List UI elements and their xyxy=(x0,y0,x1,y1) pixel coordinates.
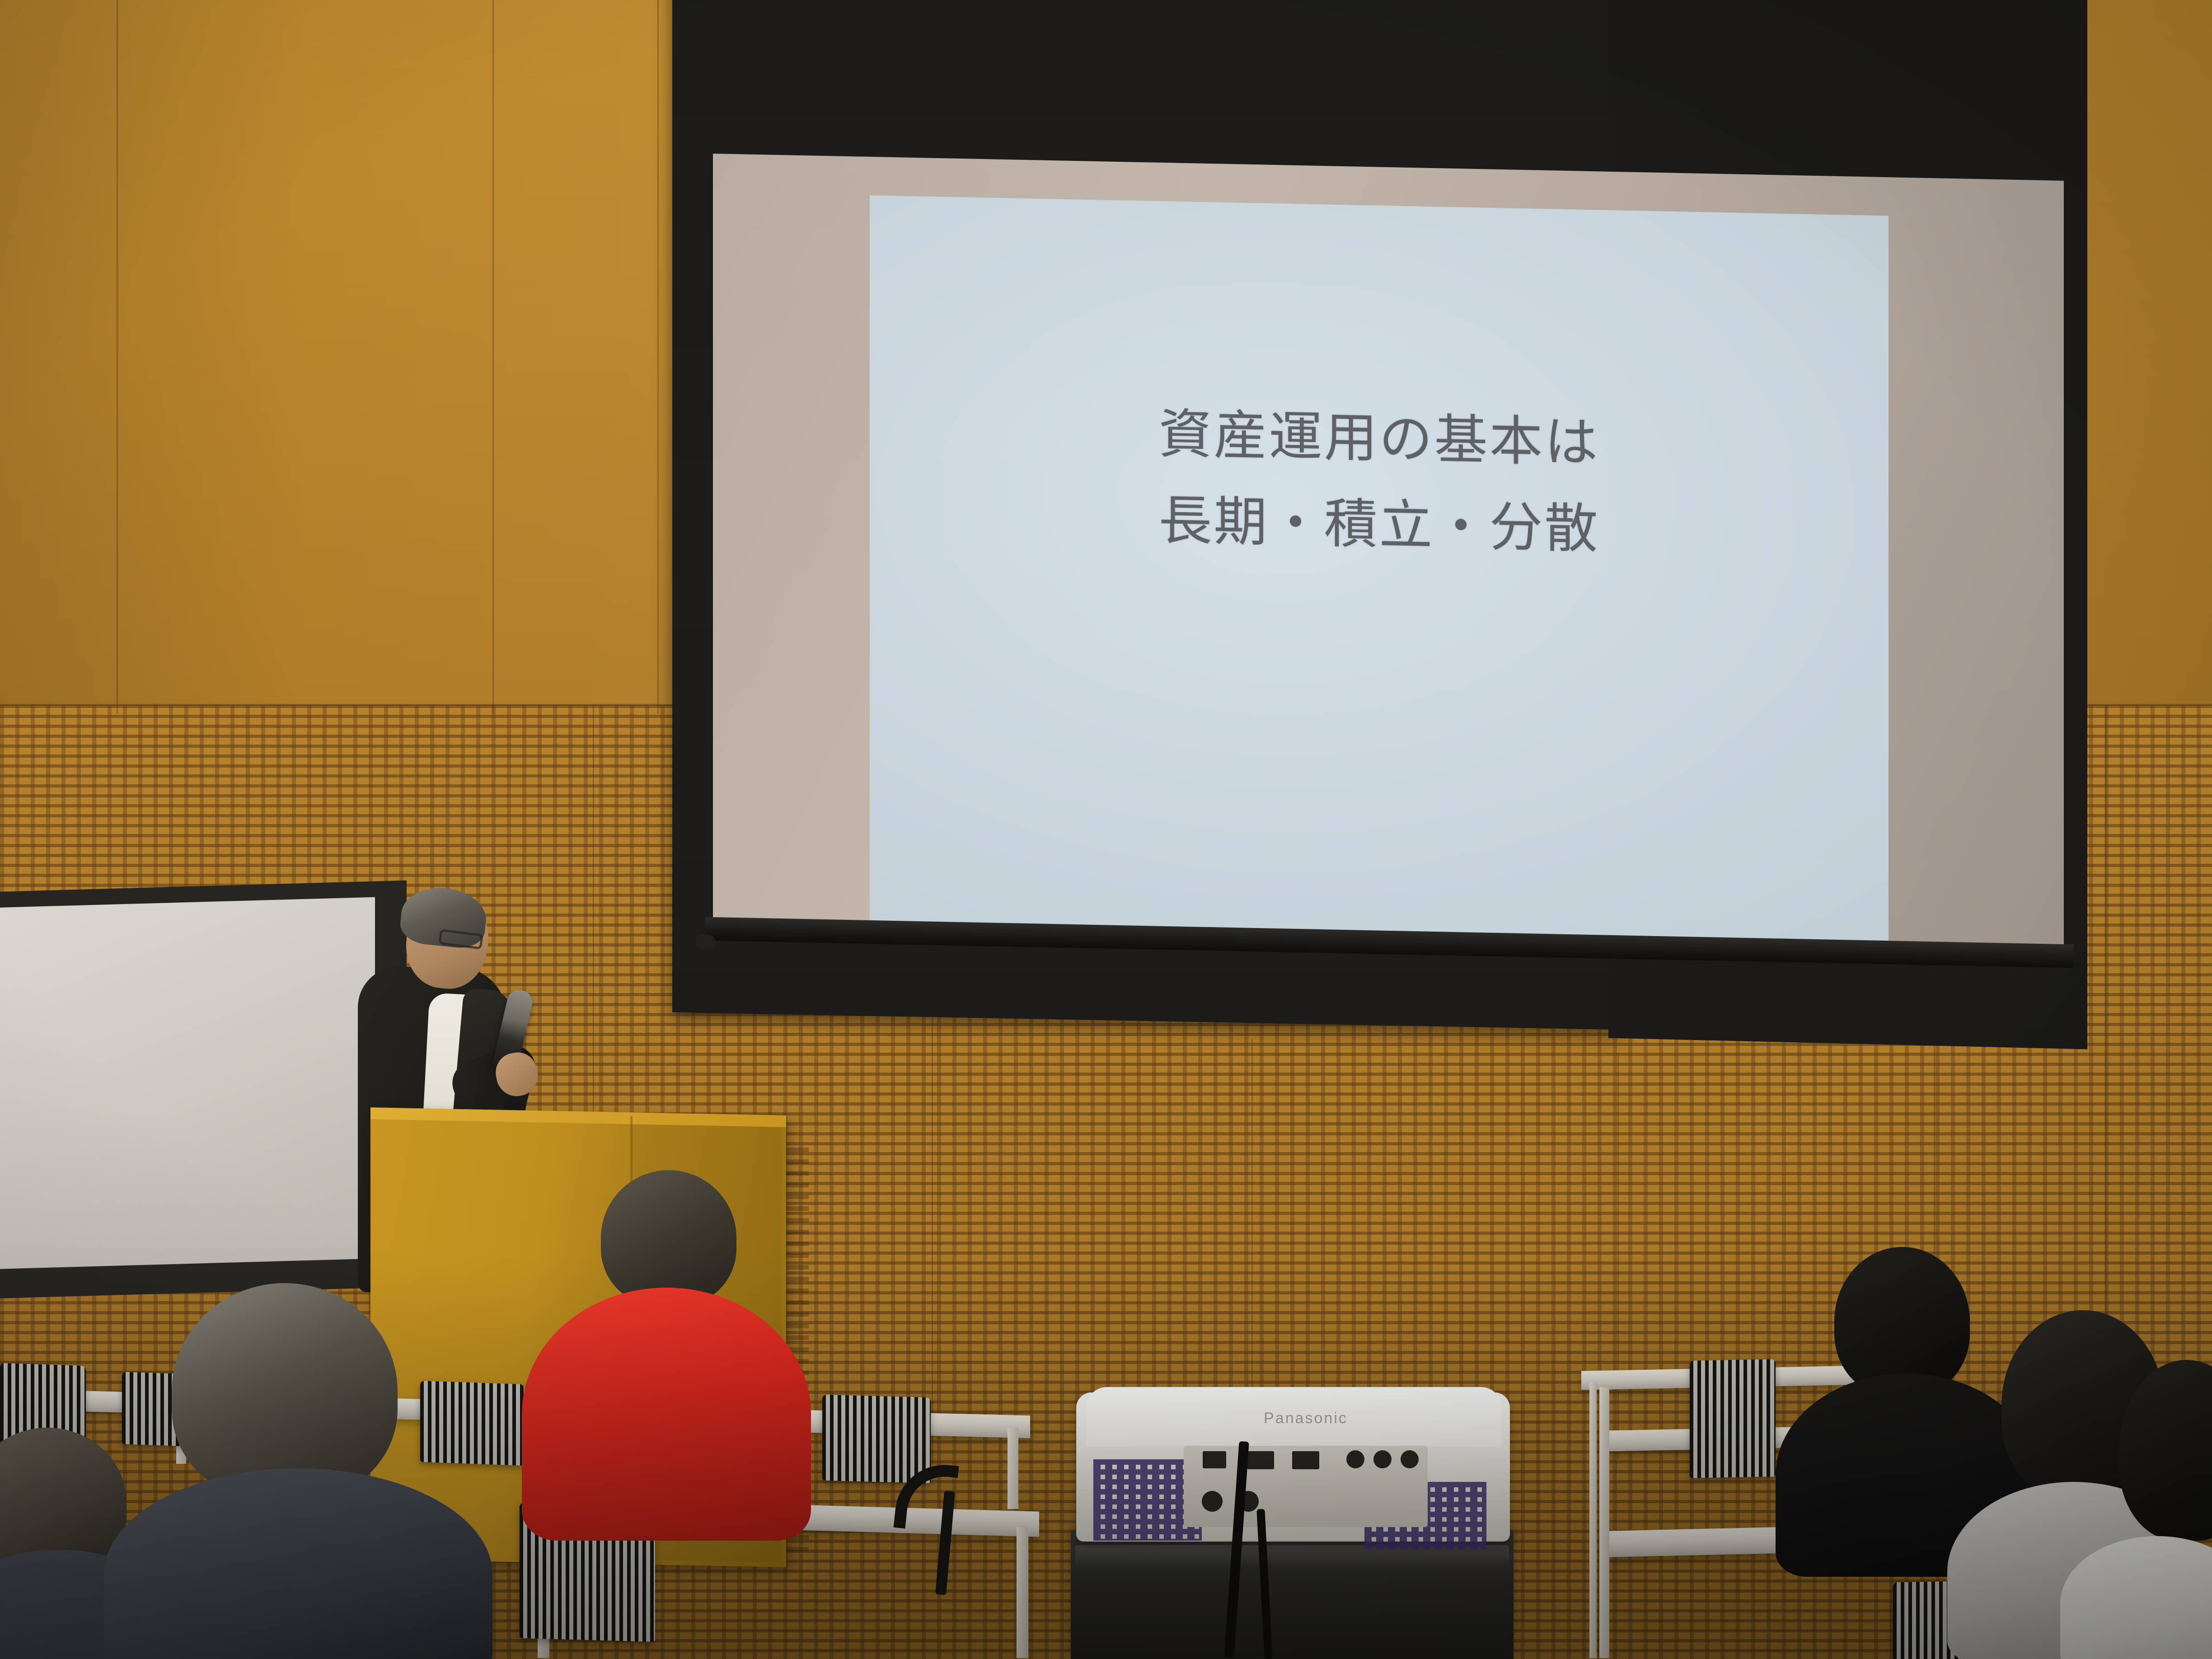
projector-port-audio-1[interactable] xyxy=(1346,1450,1364,1468)
audience-head-center-red xyxy=(601,1170,736,1306)
projector-port-usb[interactable] xyxy=(1203,1451,1226,1468)
wall-seam xyxy=(657,0,659,714)
audience-head-front-left xyxy=(172,1283,398,1500)
projector-port-vga[interactable] xyxy=(1292,1451,1319,1469)
chair-right-back[interactable] xyxy=(1690,1359,1776,1478)
desk-leg xyxy=(1017,1527,1028,1658)
lecture-hall-photo: 資産運用の基本は 長期・積立・分散 xyxy=(0,0,2212,1659)
chair-center-1[interactable] xyxy=(822,1395,931,1483)
projector-port-video[interactable] xyxy=(1202,1491,1223,1512)
screen-roller-knob[interactable] xyxy=(695,934,716,950)
chair-back-left-3[interactable] xyxy=(420,1381,524,1466)
wall-seam xyxy=(117,0,118,714)
desk-leg xyxy=(1589,1382,1597,1658)
projected-slide: 資産運用の基本は 長期・積立・分散 xyxy=(870,195,1889,954)
wall-seam xyxy=(1617,1053,1619,1459)
projector-brand-label: Panasonic xyxy=(1229,1410,1382,1427)
whiteboard-surface[interactable] xyxy=(0,897,375,1270)
slide-text-block: 資産運用の基本は 長期・積立・分散 xyxy=(870,385,1889,578)
desk-leg xyxy=(1599,1387,1609,1658)
desk-leg xyxy=(1008,1428,1018,1509)
wall-seam xyxy=(492,0,494,714)
projector-port-audio-3[interactable] xyxy=(1401,1450,1419,1468)
wall-seam xyxy=(932,1012,933,1464)
wall-seam xyxy=(1251,1039,1253,1446)
projector-port-hdmi[interactable] xyxy=(1247,1451,1274,1469)
audience-shoulders-center-red xyxy=(522,1288,811,1541)
projector-port-audio-2[interactable] xyxy=(1373,1450,1392,1468)
